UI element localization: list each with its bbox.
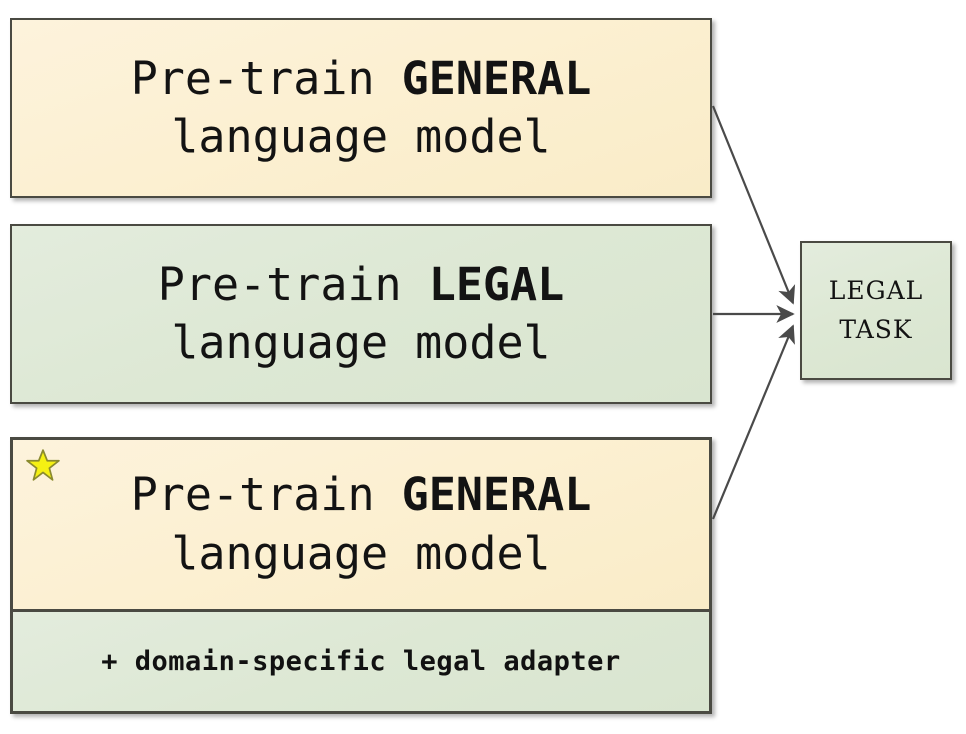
node-legal-line1: Pre-train LEGAL (158, 256, 564, 315)
node-general-1-line1-prefix: Pre-train (131, 52, 402, 105)
node-adapter-label: + domain-specific legal adapter (101, 646, 620, 677)
node-general-2-line1-prefix: Pre-train (131, 468, 402, 521)
node-legal-line1-prefix: Pre-train (158, 258, 429, 311)
node-legal-task-text: LEGAL TASK (829, 272, 923, 350)
node-pretrain-general-1[interactable]: Pre-train GENERAL language model (10, 18, 712, 198)
node-pretrain-general-with-adapter[interactable]: Pre-train GENERAL language model + domai… (10, 437, 712, 714)
node-general-1-line2: language model (131, 108, 592, 167)
node-legal-task[interactable]: LEGAL TASK (800, 241, 952, 380)
node-pretrain-legal[interactable]: Pre-train LEGAL language model (10, 224, 712, 404)
node-legal-line1-keyword: LEGAL (429, 258, 564, 311)
node-general-2-line1-keyword: GENERAL (402, 468, 592, 521)
node-general-2-body[interactable]: Pre-train GENERAL language model (13, 440, 709, 612)
node-general-2-text: Pre-train GENERAL language model (131, 466, 592, 583)
edge-general-1-to-legal-task (713, 106, 793, 303)
node-general-2-line2: language model (131, 525, 592, 584)
node-adapter-strip[interactable]: + domain-specific legal adapter (13, 612, 709, 711)
diagram-canvas: Pre-train GENERAL language model Pre-tra… (0, 0, 966, 734)
node-general-1-line1: Pre-train GENERAL (131, 50, 592, 109)
node-legal-line2: language model (158, 314, 564, 373)
node-legal-text: Pre-train LEGAL language model (158, 256, 564, 373)
node-general-2-line1: Pre-train GENERAL (131, 466, 592, 525)
star-icon (26, 448, 60, 482)
node-legal-task-line2: TASK (829, 311, 923, 350)
node-legal-task-line1: LEGAL (829, 272, 923, 311)
node-general-1-line1-keyword: GENERAL (402, 52, 592, 105)
node-general-1-text: Pre-train GENERAL language model (131, 50, 592, 167)
edge-general-2-to-legal-task (713, 326, 793, 519)
